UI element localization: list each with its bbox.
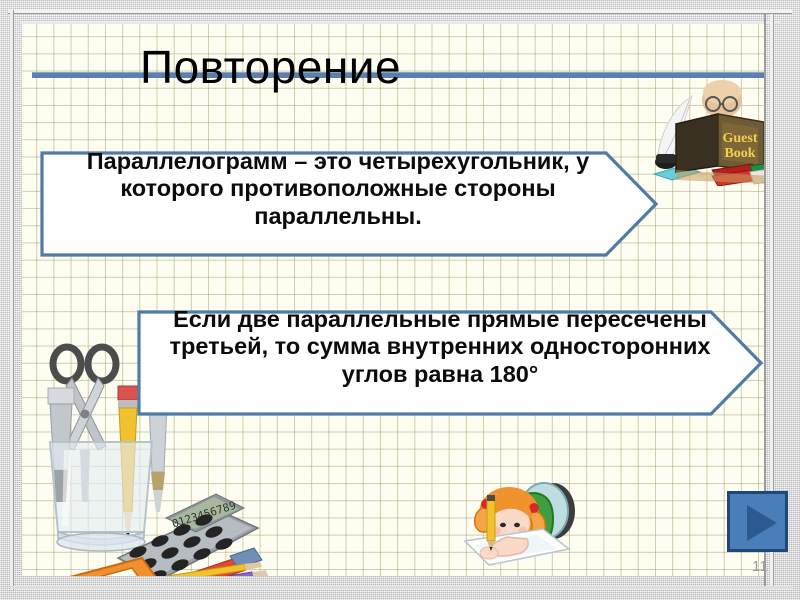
callout-theorem-text: Если две параллельные прямые пересечены … [157, 306, 723, 388]
girl-writing-image [445, 467, 595, 576]
slide-canvas: Guest Book [0, 0, 800, 600]
page-number: 11 [752, 558, 768, 575]
callout-theorem-cointerior-angles: Если две параллельные прямые пересечены … [137, 310, 764, 416]
frame-bevel-top [8, 10, 792, 13]
graph-paper-background: Guest Book [22, 24, 764, 576]
frame-bevel-left [10, 10, 13, 590]
callout-definition-text: Параллелограмм – это четырехугольник, у … [58, 148, 618, 230]
guest-book-reader-image: Guest Book [652, 76, 764, 186]
play-triangle-icon [747, 505, 777, 541]
next-slide-button[interactable] [727, 491, 788, 552]
svg-text:Book: Book [724, 146, 755, 161]
svg-text:Guest: Guest [723, 131, 758, 146]
frame-bevel-bottom [10, 586, 792, 589]
slide-title: Повторение [140, 42, 401, 92]
callout-definition-parallelogram: Параллелограмм – это четырехугольник, у … [40, 151, 660, 257]
